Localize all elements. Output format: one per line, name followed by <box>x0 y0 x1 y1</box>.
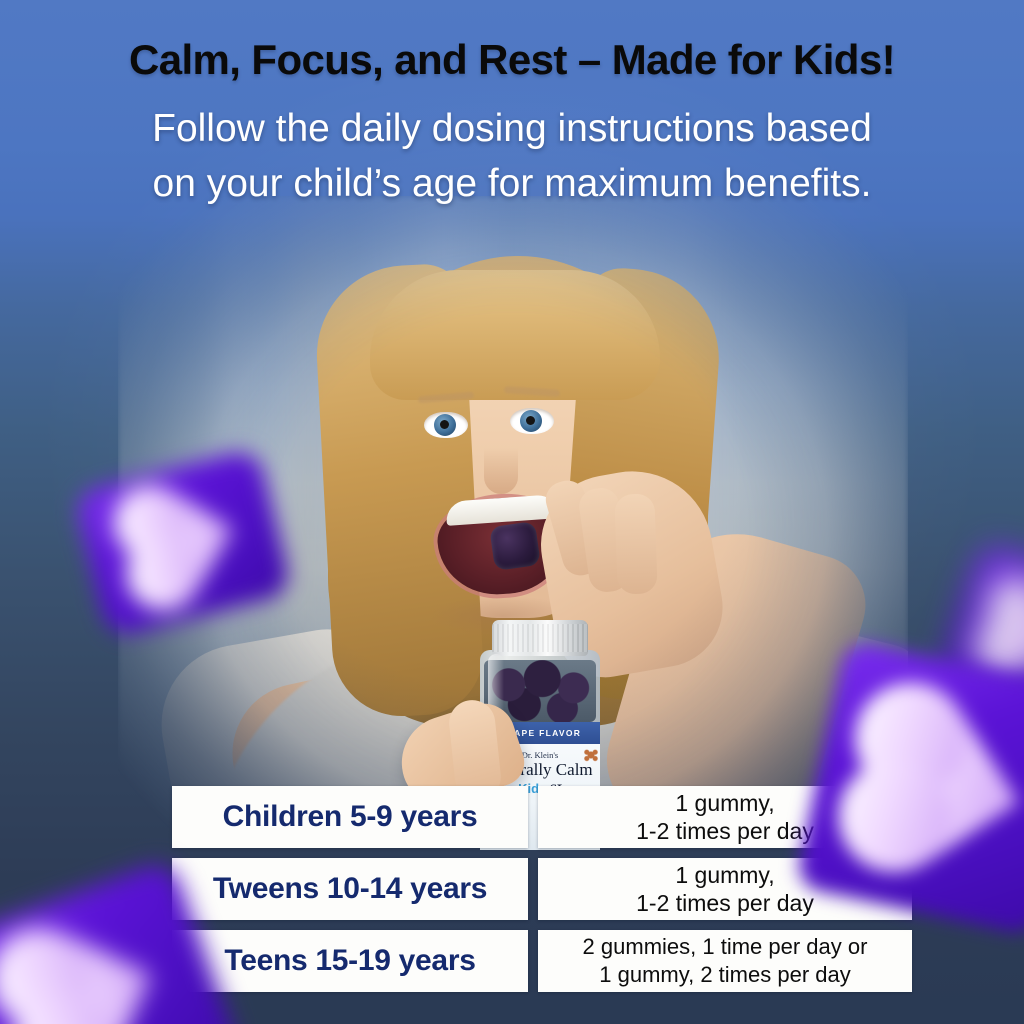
age-group-cell: Children 5-9 years <box>172 786 528 848</box>
subtitle-line-1: Follow the daily dosing instructions bas… <box>0 101 1024 156</box>
subtitle-line-2: on your child’s age for maximum benefits… <box>0 156 1024 211</box>
age-group-cell: Tweens 10-14 years <box>172 858 528 920</box>
dosage-cell: 2 gummies, 1 time per day or 1 gummy, 2 … <box>538 930 912 992</box>
infographic-canvas: GRAPE FLAVOR Dr. Klein's Naturally Calm … <box>0 0 1024 1024</box>
heart-icon <box>991 594 1024 675</box>
girl-pupil-left <box>440 420 449 429</box>
flower-icon <box>584 748 598 762</box>
table-row: Children 5-9 years 1 gummy, 1-2 times pe… <box>172 786 912 848</box>
dosage-line-1: 2 gummies, 1 time per day or <box>583 933 868 961</box>
dosage-line-1: 1 gummy, <box>636 789 814 817</box>
dosage-line-2: 1-2 times per day <box>636 889 814 917</box>
page-subtitle: Follow the daily dosing instructions bas… <box>0 101 1024 211</box>
girl-nose <box>484 448 518 494</box>
dosage-line-2: 1 gummy, 2 times per day <box>583 961 868 989</box>
age-group-cell: Teens 15-19 years <box>172 930 528 992</box>
bottle-cap-ribs <box>492 624 588 652</box>
dosage-line-2: 1-2 times per day <box>636 817 814 845</box>
girl-finger-3 <box>614 493 657 594</box>
girl-pupil-right <box>526 416 535 425</box>
page-title: Calm, Focus, and Rest – Made for Kids! <box>0 36 1024 84</box>
table-row: Teens 15-19 years 2 gummies, 1 time per … <box>172 930 912 992</box>
gummy-being-eaten <box>489 521 541 571</box>
dosing-table: Children 5-9 years 1 gummy, 1-2 times pe… <box>172 786 912 992</box>
dosage-line-1: 1 gummy, <box>636 861 814 889</box>
girl-fringe <box>370 270 660 400</box>
